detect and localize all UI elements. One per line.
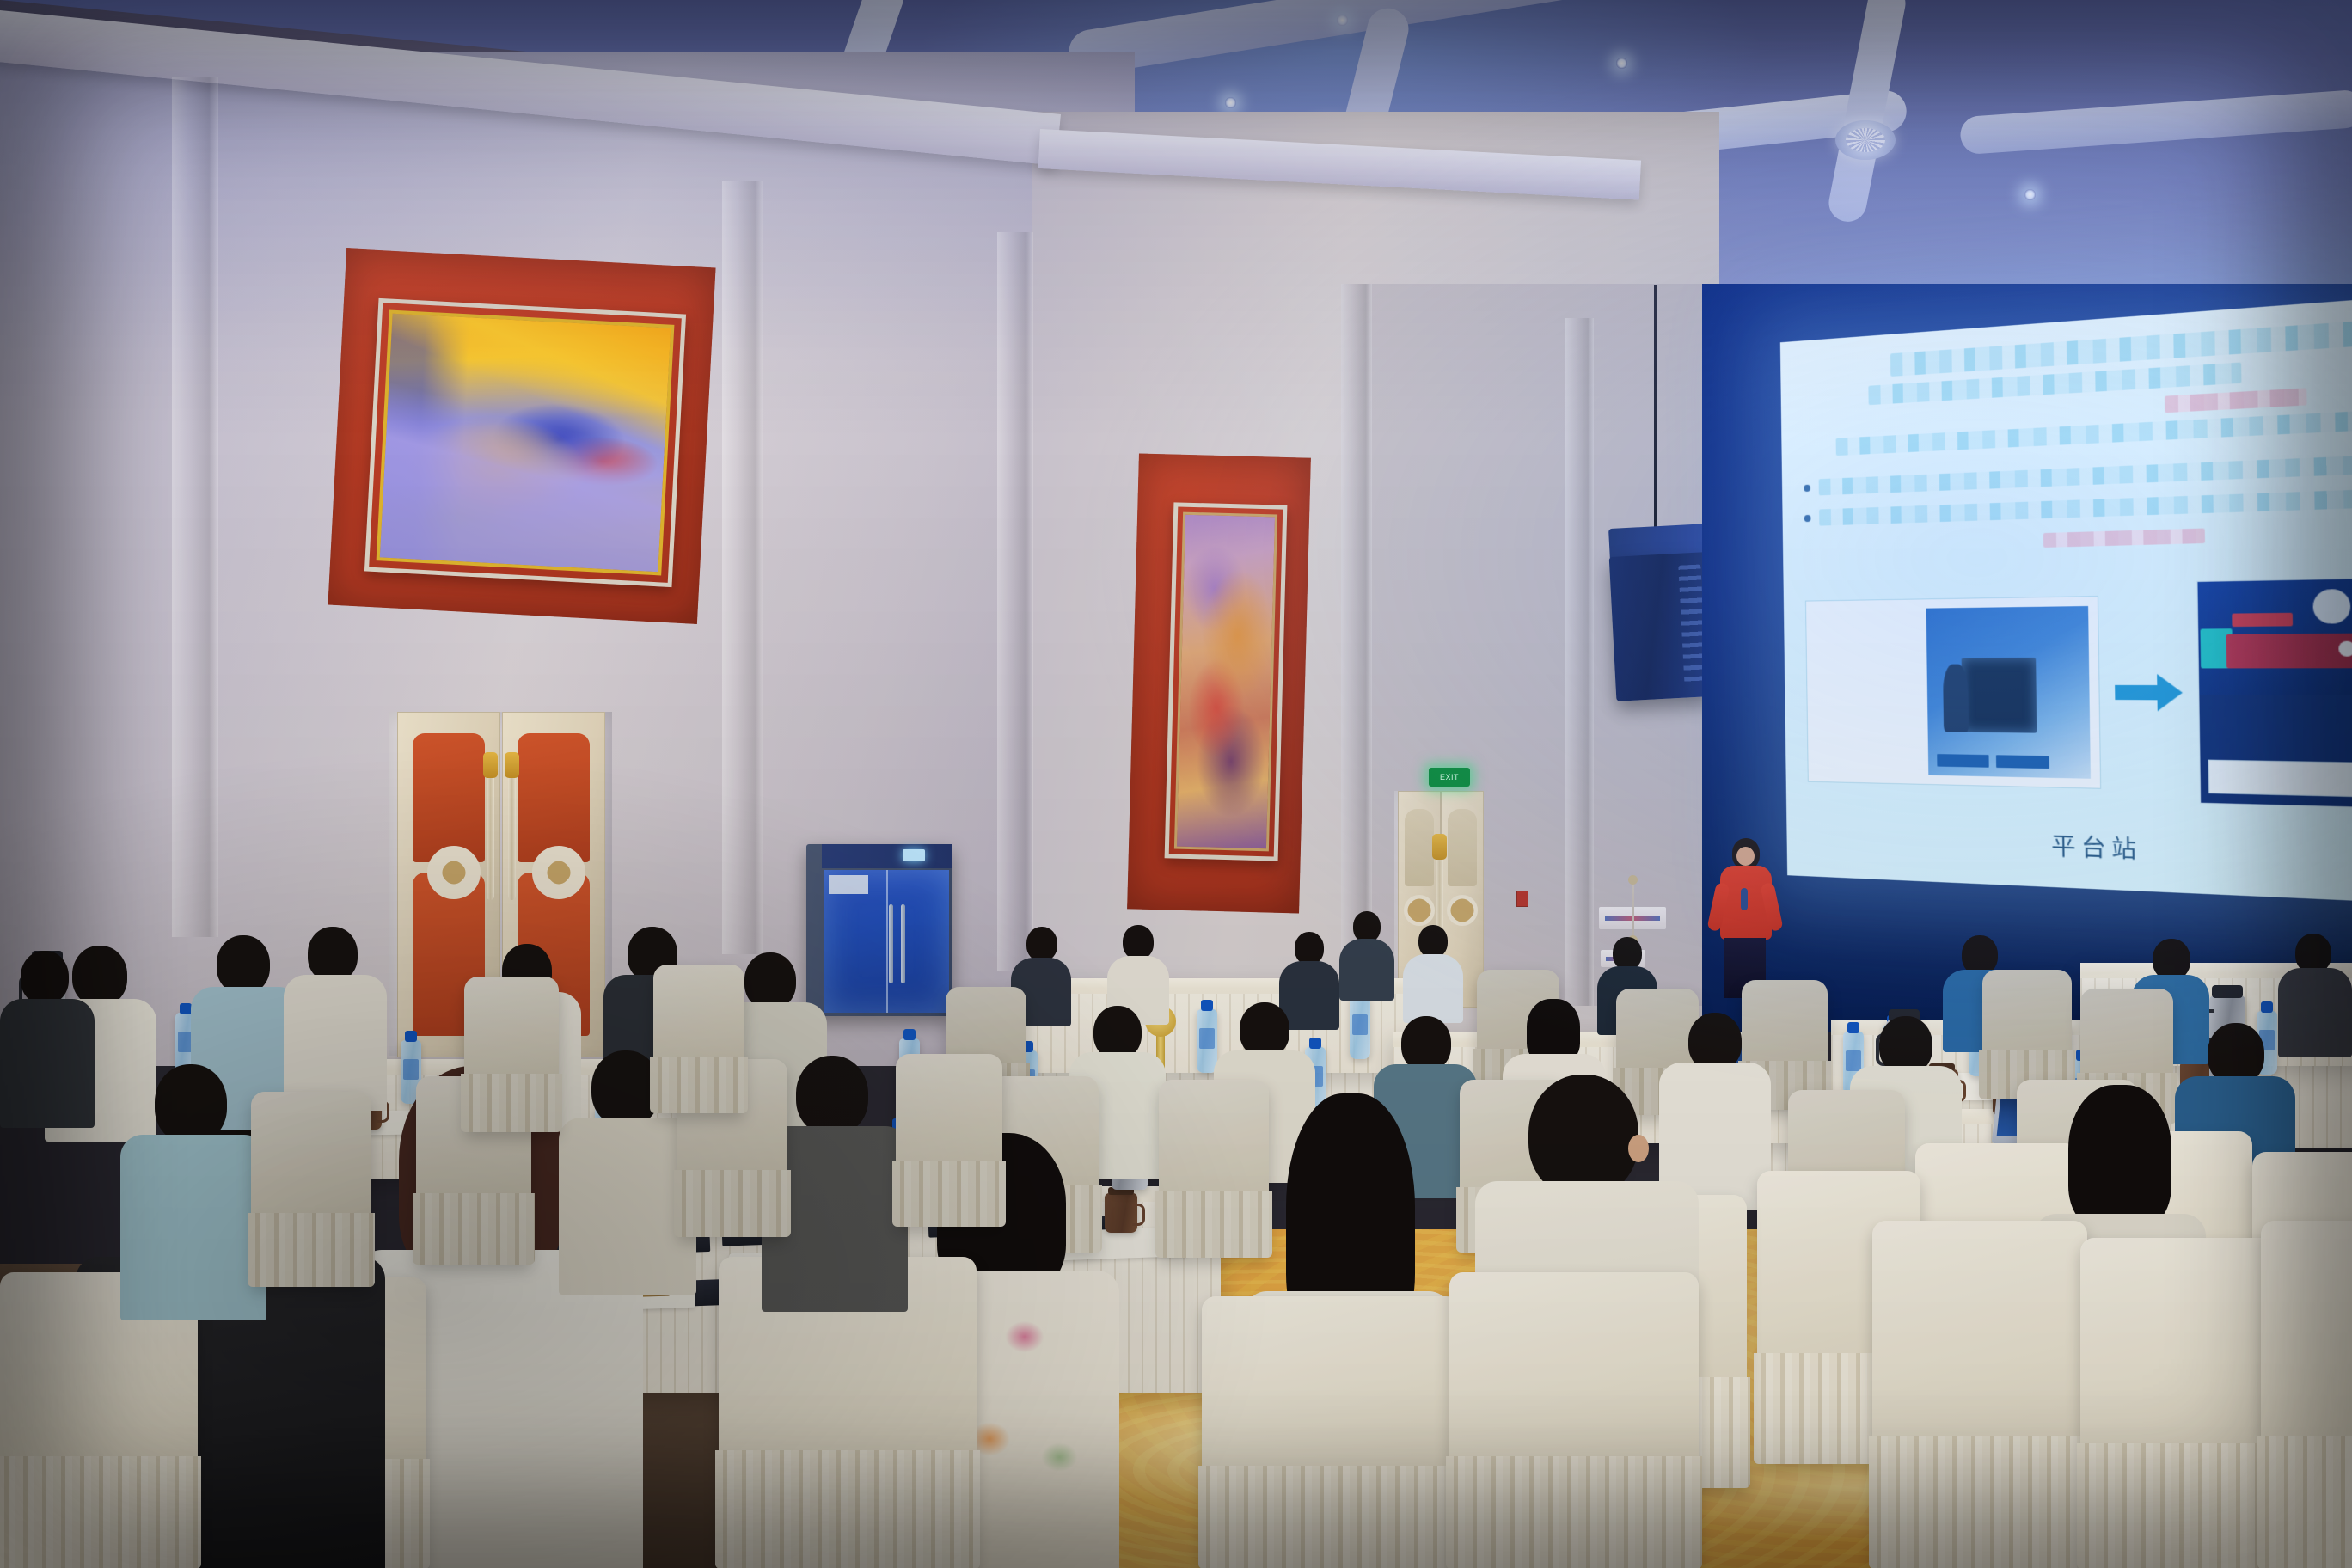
card-button-row [1937,754,2049,769]
door-medallion-icon [1404,895,1435,926]
door-handle-right[interactable] [508,771,516,900]
wall-pilaster [722,181,763,954]
fridge-header [822,844,952,868]
phone-dot-icon [2338,641,2352,657]
conference-hall-photo: EXIT [0,0,2352,1568]
person-head [1401,1016,1451,1071]
wall-pilaster [997,232,1033,971]
person-head [155,1064,227,1143]
door-medallion-icon [532,846,585,899]
banquet-chair [1872,1221,2087,1568]
person-head [21,951,69,1004]
wifi-icon [2312,589,2350,624]
door-panel [1448,809,1478,886]
person-torso [0,999,95,1128]
exit-sign-label: EXIT [1440,773,1459,781]
microphone-icon [1741,888,1748,910]
audience-member [120,1064,266,1305]
fridge-label [829,875,868,894]
slide-figure-row [1805,577,2352,810]
person-head [744,952,796,1009]
banquet-chair [896,1054,1002,1226]
person-head [1093,1006,1142,1059]
door-panel [413,733,486,862]
slide-title-mosaic [2165,388,2307,413]
line-array-speaker [1609,552,1713,701]
fire-alarm-icon [1516,891,1528,907]
door-medallion-icon [1447,895,1478,926]
slide-highlight-mosaic [2043,528,2205,547]
phone-list-panel [2208,760,2352,798]
card-action-button[interactable] [1937,754,1988,768]
banquet-chair [1449,1272,1699,1568]
door-panel [1405,809,1435,886]
person-head [2153,939,2190,980]
wall-pilaster [1565,318,1594,1006]
slide-title-mosaic [1890,320,2352,377]
speaker-suspension-wire [1654,285,1657,535]
banquet-chair [653,965,744,1112]
downlight-icon [2024,189,2036,200]
card-text-column [1815,608,1920,775]
person-head [308,927,358,982]
card-photo-thumbnail [1926,605,2091,778]
phone-red-banner [2226,634,2352,669]
fridge-handle[interactable] [889,904,893,983]
door-medallion-icon [427,846,481,899]
painting-landscape-abstract [377,310,675,576]
downlight-icon [1225,97,1236,108]
person-torso [284,975,387,1111]
phone-tag-badge [2232,613,2293,627]
person-head [217,935,270,994]
banquet-chair [251,1092,371,1286]
glass-door-refrigerator [806,844,952,1016]
door-handle[interactable] [1436,853,1443,930]
banquet-chair [2261,1221,2352,1568]
person-head [1295,932,1324,965]
fridge-display-icon [903,849,925,861]
presenter-at-stage [1715,838,1775,997]
person-ear [1628,1135,1649,1162]
downlight-icon [1337,15,1348,26]
fridge-handle[interactable] [901,904,905,983]
arrow-right-icon [2115,673,2183,711]
person-torso [1403,954,1463,1023]
projection-screen: 平台站 [1780,293,2352,904]
bullet-icon [1804,484,1810,491]
door-handle-left[interactable] [487,771,494,900]
slide-body-mosaic [1835,411,2352,456]
person-head [1353,911,1381,942]
person-hair-long [2068,1085,2171,1229]
painting-portrait-abstract [1174,512,1277,852]
person-head [1528,1075,1638,1197]
slide-ui-card [1805,596,2101,789]
slide-bullet-mosaic [1819,487,2352,525]
banquet-chair [464,977,559,1131]
artwork-frame-portrait [1165,502,1288,861]
card-action-button[interactable] [1996,755,2049,769]
slide-phone-mockup [2196,578,2352,808]
artwork-frame-landscape [364,298,686,587]
person-head [1613,937,1642,970]
presenter-face [1736,847,1755,866]
slide-bullet-item [1804,453,2352,496]
person-head [1240,1002,1289,1057]
audience-member [0,951,95,1114]
slide-bullet-mosaic [1819,453,2352,495]
exit-sign: EXIT [1429,768,1470,787]
audience-member [1403,925,1463,1020]
person-head [1123,925,1154,959]
wall-knob-icon [1628,875,1638,885]
audience-member [284,927,387,1099]
ceiling-rosette-2 [1835,120,1896,160]
person-torso [1339,939,1394,1001]
audience-member [1339,911,1394,997]
door-panel [518,733,591,862]
person-head [1418,925,1448,958]
bullet-icon [1804,514,1811,521]
wall-pilaster [172,77,218,937]
person-hair [1527,999,1580,1063]
slide-bullet-item [1804,487,2352,526]
person-head [796,1056,868,1135]
banquet-chair [1202,1296,1460,1568]
person-head [1026,927,1057,961]
water-bottle [1350,995,1370,1059]
person-torso [120,1135,266,1320]
projected-slide: 平台站 [1780,293,2352,904]
wall-pilaster [1341,284,1372,989]
downlight-icon [1616,58,1627,69]
